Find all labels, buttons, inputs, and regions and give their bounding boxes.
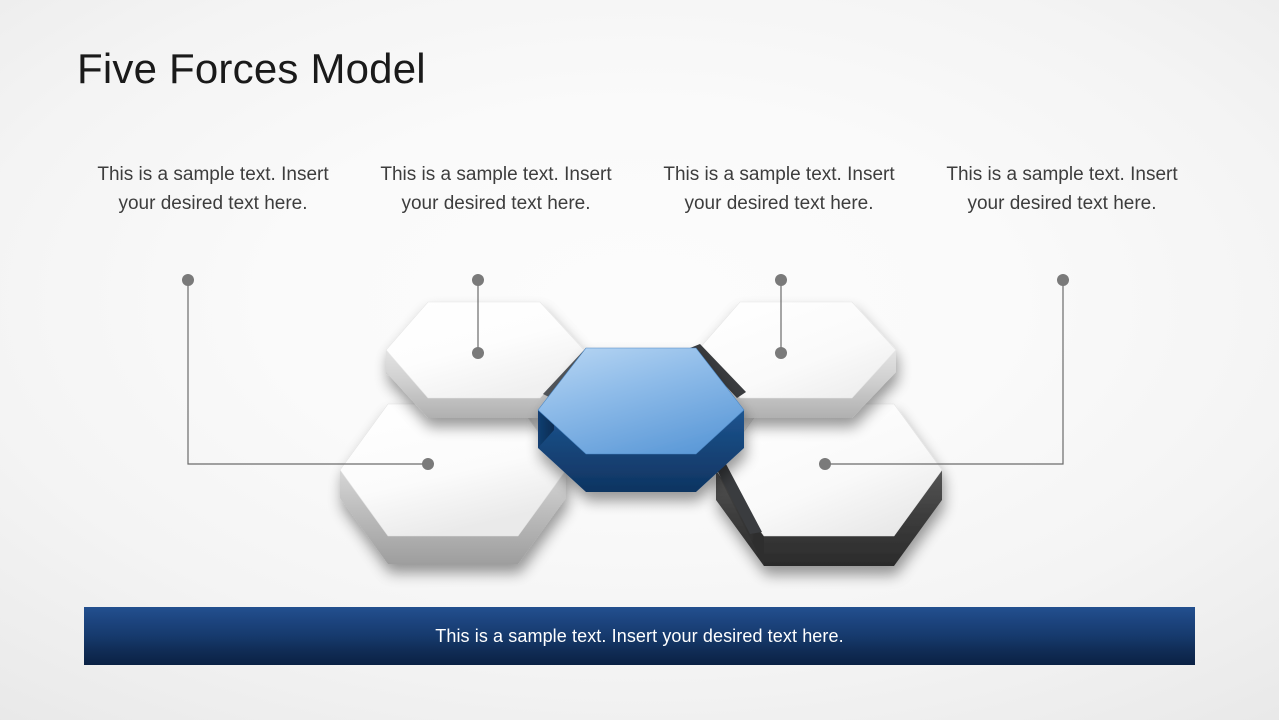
hex-bottom-left[interactable] xyxy=(340,404,566,564)
hex-center[interactable] xyxy=(538,348,744,492)
hex-bottom-left-top xyxy=(340,404,566,536)
bottom-banner[interactable]: This is a sample text. Insert your desir… xyxy=(84,607,1195,665)
hex-bottom-right[interactable] xyxy=(716,404,942,566)
bottom-banner-text: This is a sample text. Insert your desir… xyxy=(435,626,843,647)
